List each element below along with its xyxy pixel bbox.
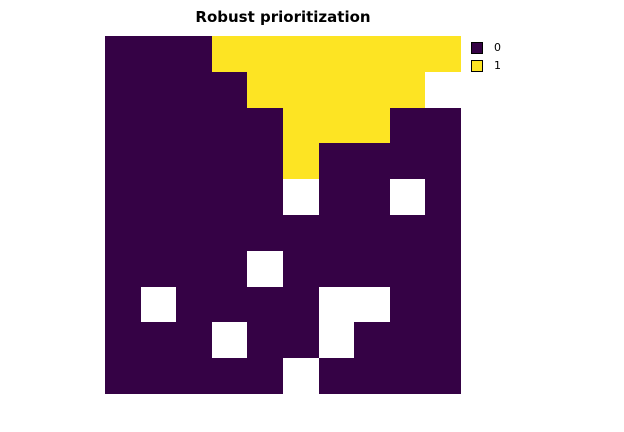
heatmap-cell — [390, 251, 426, 287]
heatmap-cell — [283, 143, 319, 179]
heatmap-cell — [176, 143, 212, 179]
heatmap-cell — [319, 215, 355, 251]
heatmap-cell — [319, 251, 355, 287]
heatmap-cell — [247, 143, 283, 179]
heatmap-cell — [390, 287, 426, 323]
legend-swatch-1-icon — [471, 60, 483, 72]
heatmap-cell — [319, 179, 355, 215]
heatmap-cell — [212, 179, 248, 215]
heatmap-grid — [105, 36, 461, 394]
heatmap-cell — [105, 108, 141, 144]
heatmap-cell — [212, 215, 248, 251]
legend: 0 1 — [471, 41, 501, 72]
heatmap-cell — [425, 72, 461, 108]
heatmap-cell — [141, 322, 177, 358]
heatmap-cell — [390, 143, 426, 179]
heatmap-cell — [176, 108, 212, 144]
heatmap-cell — [105, 143, 141, 179]
heatmap-cell — [319, 322, 355, 358]
heatmap-plot-area — [105, 36, 461, 394]
heatmap-cell — [141, 108, 177, 144]
heatmap-cell — [212, 36, 248, 72]
heatmap-cell — [247, 108, 283, 144]
heatmap-cell — [319, 72, 355, 108]
legend-item-1[interactable]: 1 — [471, 59, 501, 72]
heatmap-cell — [247, 179, 283, 215]
heatmap-cell — [425, 143, 461, 179]
heatmap-cell — [105, 179, 141, 215]
heatmap-cell — [425, 108, 461, 144]
heatmap-cell — [425, 251, 461, 287]
legend-label-1: 1 — [494, 60, 501, 72]
heatmap-cell — [283, 287, 319, 323]
heatmap-cell — [105, 36, 141, 72]
heatmap-cell — [425, 287, 461, 323]
heatmap-cell — [176, 287, 212, 323]
heatmap-cell — [176, 358, 212, 394]
heatmap-cell — [141, 358, 177, 394]
heatmap-cell — [354, 108, 390, 144]
heatmap-cell — [354, 36, 390, 72]
heatmap-cell — [283, 179, 319, 215]
heatmap-cell — [176, 251, 212, 287]
heatmap-cell — [176, 36, 212, 72]
heatmap-cell — [354, 215, 390, 251]
heatmap-cell — [390, 322, 426, 358]
heatmap-cell — [319, 143, 355, 179]
heatmap-cell — [354, 143, 390, 179]
heatmap-cell — [141, 72, 177, 108]
figure-canvas: Robust prioritization 0 1 — [0, 0, 624, 432]
heatmap-cell — [283, 72, 319, 108]
heatmap-cell — [283, 358, 319, 394]
heatmap-cell — [176, 72, 212, 108]
heatmap-cell — [212, 251, 248, 287]
legend-label-0: 0 — [494, 42, 501, 54]
heatmap-cell — [283, 322, 319, 358]
heatmap-cell — [425, 322, 461, 358]
heatmap-cell — [354, 358, 390, 394]
heatmap-cell — [390, 179, 426, 215]
heatmap-cell — [283, 251, 319, 287]
heatmap-cell — [141, 287, 177, 323]
heatmap-cell — [283, 215, 319, 251]
heatmap-cell — [319, 108, 355, 144]
heatmap-cell — [141, 36, 177, 72]
heatmap-cell — [283, 108, 319, 144]
heatmap-cell — [176, 215, 212, 251]
heatmap-cell — [247, 215, 283, 251]
heatmap-cell — [390, 36, 426, 72]
heatmap-cell — [212, 108, 248, 144]
heatmap-cell — [319, 287, 355, 323]
heatmap-cell — [319, 358, 355, 394]
heatmap-cell — [212, 322, 248, 358]
heatmap-cell — [354, 322, 390, 358]
heatmap-cell — [247, 322, 283, 358]
heatmap-cell — [105, 322, 141, 358]
heatmap-cell — [105, 251, 141, 287]
heatmap-cell — [354, 287, 390, 323]
heatmap-cell — [390, 72, 426, 108]
heatmap-cell — [354, 251, 390, 287]
heatmap-cell — [354, 179, 390, 215]
heatmap-cell — [212, 287, 248, 323]
heatmap-cell — [141, 251, 177, 287]
page-title: Robust prioritization — [105, 8, 461, 26]
heatmap-cell — [425, 36, 461, 72]
heatmap-cell — [212, 358, 248, 394]
heatmap-cell — [141, 143, 177, 179]
heatmap-cell — [141, 179, 177, 215]
heatmap-cell — [390, 358, 426, 394]
heatmap-cell — [390, 215, 426, 251]
heatmap-cell — [283, 36, 319, 72]
heatmap-cell — [354, 72, 390, 108]
heatmap-cell — [425, 179, 461, 215]
heatmap-cell — [176, 322, 212, 358]
heatmap-cell — [425, 358, 461, 394]
heatmap-cell — [247, 358, 283, 394]
heatmap-cell — [390, 108, 426, 144]
heatmap-cell — [105, 215, 141, 251]
heatmap-cell — [247, 36, 283, 72]
heatmap-cell — [141, 215, 177, 251]
legend-swatch-0-icon — [471, 42, 483, 54]
heatmap-cell — [247, 287, 283, 323]
heatmap-cell — [105, 72, 141, 108]
heatmap-cell — [319, 36, 355, 72]
heatmap-cell — [212, 72, 248, 108]
legend-item-0[interactable]: 0 — [471, 41, 501, 54]
heatmap-cell — [105, 287, 141, 323]
heatmap-cell — [176, 179, 212, 215]
heatmap-cell — [425, 215, 461, 251]
heatmap-cell — [212, 143, 248, 179]
heatmap-cell — [247, 251, 283, 287]
heatmap-cell — [247, 72, 283, 108]
heatmap-cell — [105, 358, 141, 394]
